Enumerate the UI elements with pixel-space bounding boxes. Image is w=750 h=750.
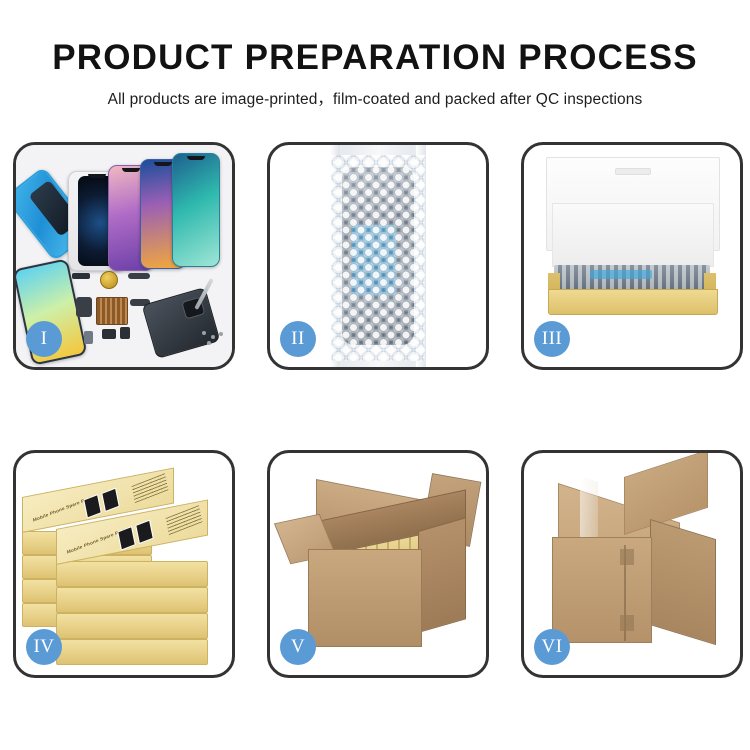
notch-icon [122,168,140,172]
box-spec-lines-icon [166,505,203,535]
component-icon [72,273,90,279]
box-artwork-screen-icon [101,487,120,512]
boxed-product-icon [554,265,710,291]
retail-box-icon [56,613,208,639]
flex-cable-icon [128,273,150,279]
carton-tab-icon [620,615,634,631]
retail-box-icon [56,587,208,613]
step-badge-1: I [26,321,62,357]
infographic-page: PRODUCT PREPARATION PROCESS All products… [0,0,750,750]
teal-phone-icon [172,153,220,267]
speaker-coil-icon [100,271,118,289]
screws-icon [202,331,224,345]
component-icon [102,329,116,339]
box-interior-icon [552,203,714,267]
box-artwork-screen-icon [117,526,136,551]
step-panel-3: III [521,142,743,370]
bubble-texture-icon [331,155,425,361]
flex-cable-icon [76,297,92,317]
step-badge-5: V [280,629,316,665]
retail-box-icon [56,639,208,665]
step-badge-6: VI [534,629,570,665]
notch-icon [187,156,205,160]
component-icon [84,331,93,344]
step-badge-2: II [280,321,316,357]
process-steps-grid: I II [0,128,750,698]
step-panel-1: I [13,142,235,370]
chip-grid-icon [96,297,128,325]
component-icon [120,327,130,339]
box-spec-lines-icon [132,473,169,503]
carton-side-panel [650,519,716,645]
box-artwork-screen-icon [135,519,154,544]
packing-tape-icon [580,476,598,544]
page-subtitle: All products are image-printed，film-coat… [0,78,750,110]
notch-icon [154,162,172,166]
carton-tab-icon [620,549,634,565]
header: PRODUCT PREPARATION PROCESS All products… [0,0,750,110]
box-artwork-screen-icon [83,494,102,519]
box-front-panel [548,289,718,315]
page-title: PRODUCT PREPARATION PROCESS [0,0,750,78]
carton-front-panel [552,537,652,643]
notch-icon [88,174,106,178]
step-panel-2: II [267,142,489,370]
step-panel-5: V [267,450,489,678]
step-badge-3: III [534,321,570,357]
carton-side-panel [418,517,466,633]
step-badge-4: IV [26,629,62,665]
step-panel-6: VI [521,450,743,678]
lid-tab-icon [615,168,651,175]
step-panel-4: Mobile Phone Spare Parts Mobile Phone Sp… [13,450,235,678]
retail-box-icon [56,561,208,587]
bubble-bag-icon [330,145,426,367]
carton-front-panel [308,549,422,647]
